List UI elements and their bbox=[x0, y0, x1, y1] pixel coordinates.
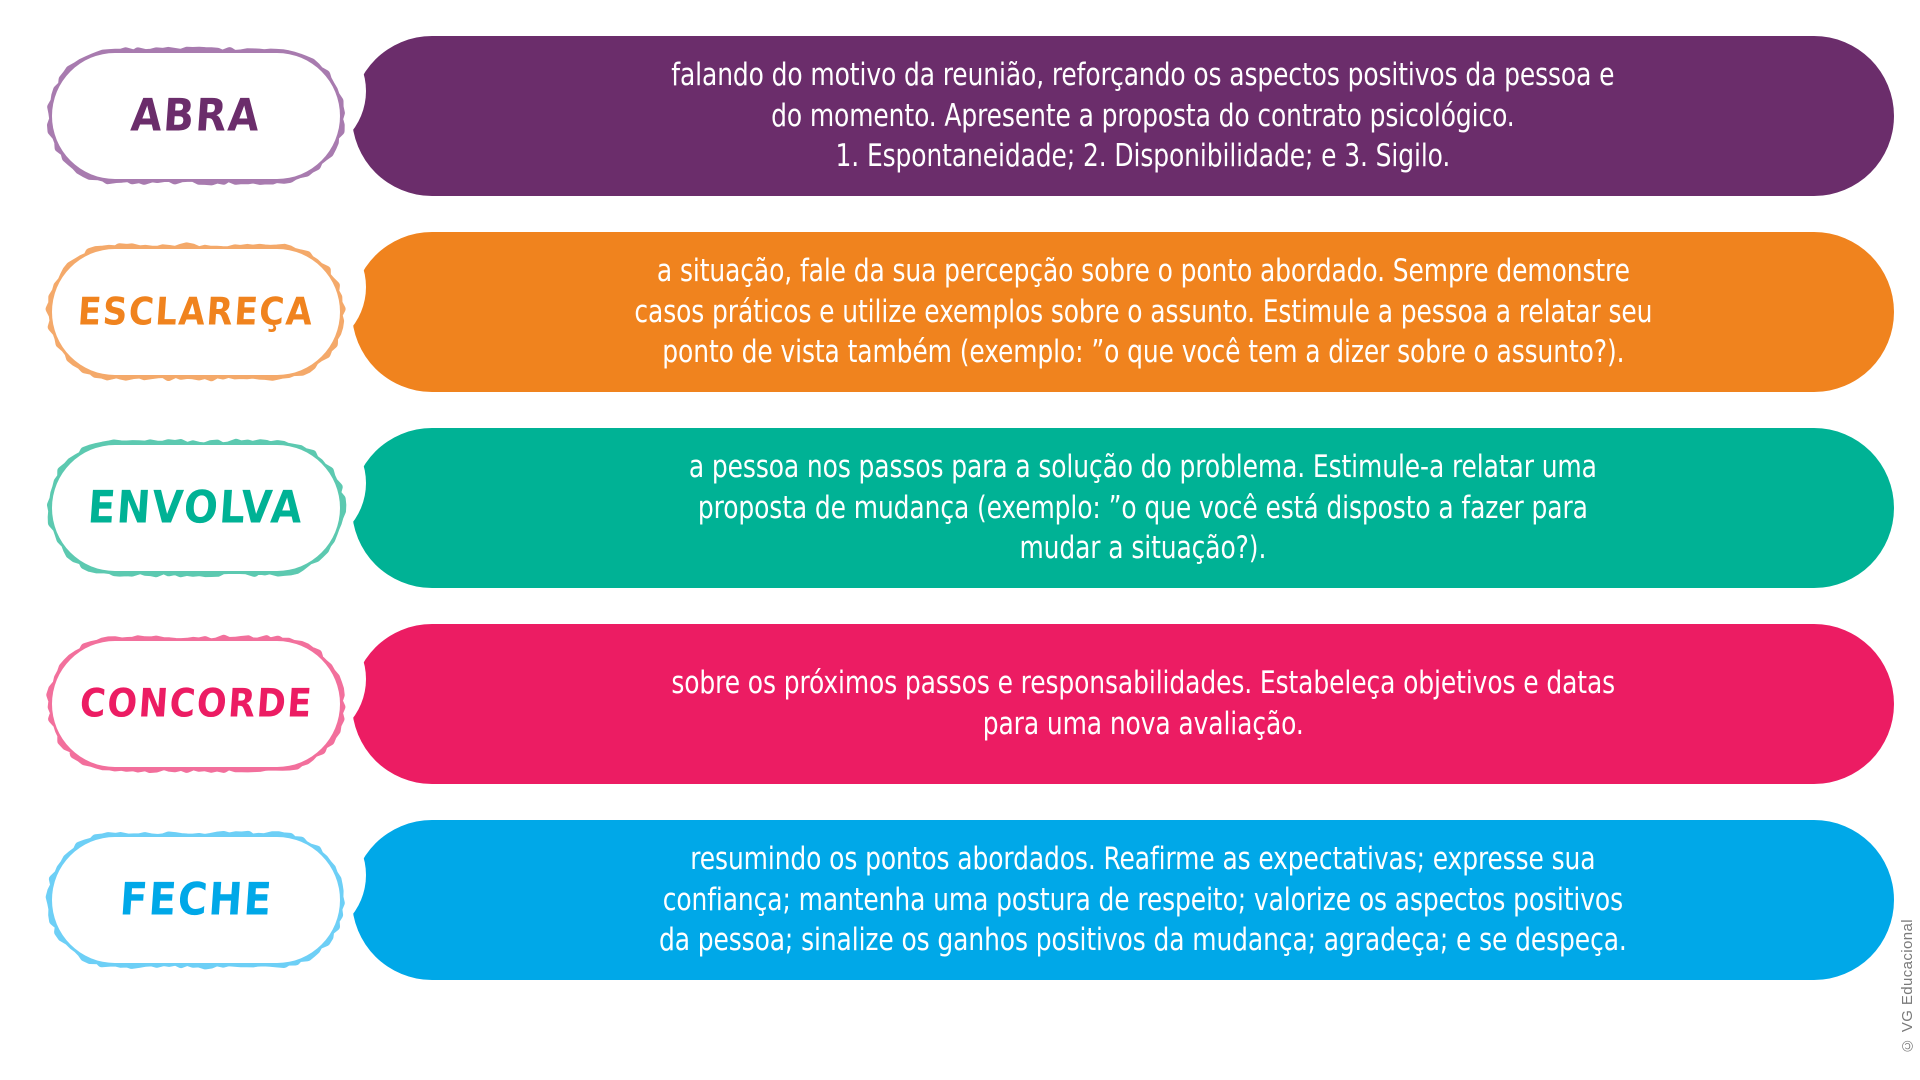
step-badge[interactable]: ESCLAREÇA bbox=[52, 249, 340, 375]
step-description-bar: falando do motivo da reunião, reforçando… bbox=[352, 36, 1894, 196]
step-badge[interactable]: ENVOLVA bbox=[52, 445, 340, 571]
step-label: ESCLAREÇA bbox=[77, 293, 315, 331]
step-label: ENVOLVA bbox=[87, 486, 306, 531]
step-row[interactable]: a pessoa nos passos para a solução do pr… bbox=[0, 420, 1920, 596]
step-description-bar: a situação, fale da sua percepção sobre … bbox=[352, 232, 1894, 392]
step-label: CONCORDE bbox=[78, 684, 314, 723]
step-row[interactable]: sobre os próximos passos e responsabilid… bbox=[0, 616, 1920, 792]
badge-body: ENVOLVA bbox=[52, 445, 340, 571]
step-description-bar: a pessoa nos passos para a solução do pr… bbox=[352, 428, 1894, 588]
step-row[interactable]: falando do motivo da reunião, reforçando… bbox=[0, 28, 1920, 204]
copyright-notice: © VG Educacional bbox=[1899, 919, 1916, 1054]
step-description-text: a pessoa nos passos para a solução do pr… bbox=[689, 447, 1597, 570]
badge-body: ABRA bbox=[52, 53, 340, 179]
step-description-text: falando do motivo da reunião, reforçando… bbox=[671, 55, 1614, 178]
step-badge[interactable]: CONCORDE bbox=[52, 641, 340, 767]
badge-body: FECHE bbox=[52, 837, 340, 963]
step-label: ABRA bbox=[130, 94, 263, 139]
badge-body: ESCLAREÇA bbox=[52, 249, 340, 375]
step-label: FECHE bbox=[118, 878, 274, 923]
step-description-text: a situação, fale da sua percepção sobre … bbox=[634, 251, 1652, 374]
step-description-bar: sobre os próximos passos e responsabilid… bbox=[352, 624, 1894, 784]
step-row[interactable]: a situação, fale da sua percepção sobre … bbox=[0, 224, 1920, 400]
step-row[interactable]: resumindo os pontos abordados. Reafirme … bbox=[0, 812, 1920, 988]
step-badge[interactable]: ABRA bbox=[52, 53, 340, 179]
step-description-bar: resumindo os pontos abordados. Reafirme … bbox=[352, 820, 1894, 980]
step-description-text: resumindo os pontos abordados. Reafirme … bbox=[659, 839, 1627, 962]
step-description-text: sobre os próximos passos e responsabilid… bbox=[671, 663, 1615, 745]
badge-body: CONCORDE bbox=[52, 641, 340, 767]
acronym-infographic: falando do motivo da reunião, reforçando… bbox=[0, 0, 1920, 1080]
step-badge[interactable]: FECHE bbox=[52, 837, 340, 963]
